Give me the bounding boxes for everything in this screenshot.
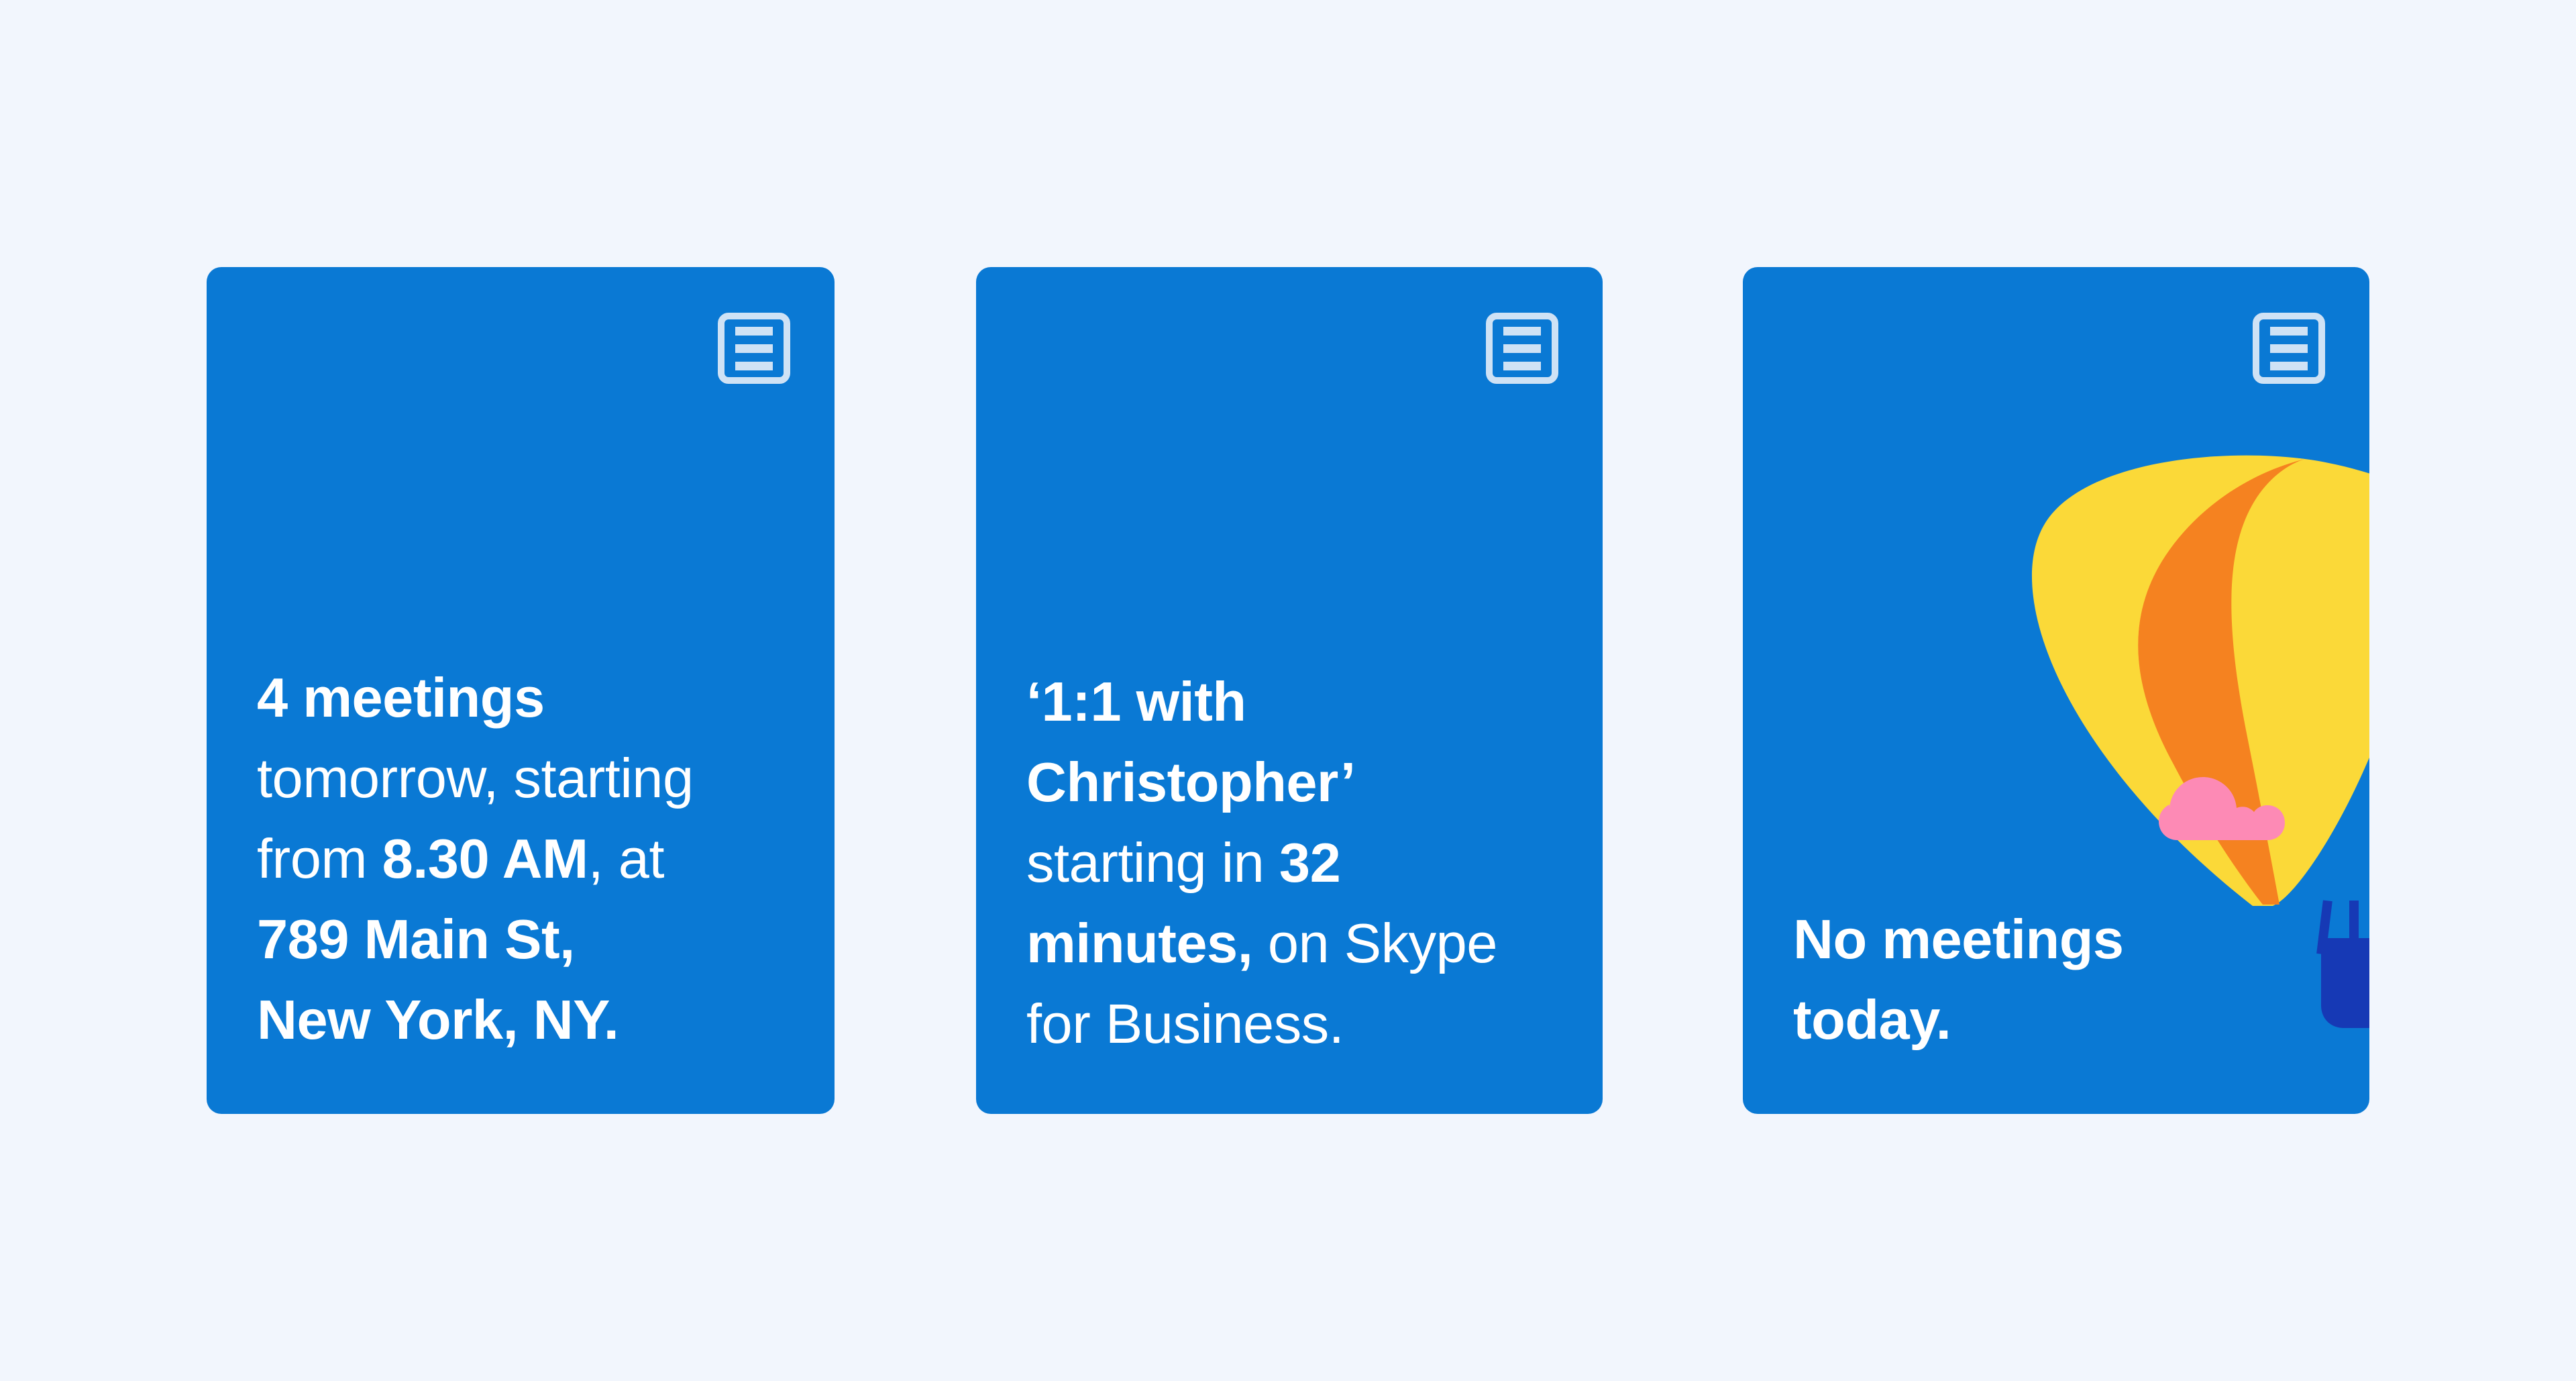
card-message: No meetings today. — [1793, 899, 2330, 1060]
list-menu-bar — [1503, 327, 1541, 336]
card-message-line: 789 Main St, — [257, 908, 575, 970]
balloon-envelope-orange — [2138, 459, 2305, 905]
card-message: 4 meetings tomorrow, starting from 8.30 … — [257, 658, 794, 1060]
meeting-card-tomorrow[interactable]: 4 meetings tomorrow, starting from 8.30 … — [207, 267, 835, 1114]
card-message-line: minutes, on Skype — [1026, 912, 1497, 974]
card-message-line: ‘1:1 with — [1026, 670, 1246, 733]
list-menu-bar — [735, 362, 773, 370]
cloud-pink — [2159, 777, 2285, 840]
meeting-card-none[interactable]: No meetings today. — [1743, 267, 2369, 1114]
list-menu-bar — [2270, 362, 2308, 370]
balloon-envelope-yellow-left — [2033, 457, 2305, 905]
card-message-line: today. — [1793, 988, 1951, 1051]
list-menu-bar — [2270, 344, 2308, 353]
list-menu-bar — [1503, 344, 1541, 353]
list-menu-icon[interactable] — [1486, 313, 1558, 384]
screen: 4 meetings tomorrow, starting from 8.30 … — [0, 0, 2576, 1381]
card-message-line: New York, NY. — [257, 988, 619, 1051]
list-menu-icon[interactable] — [2253, 313, 2325, 384]
list-menu-icon[interactable] — [718, 313, 790, 384]
list-menu-bar — [1503, 362, 1541, 370]
card-message-line: No meetings — [1793, 908, 2124, 970]
balloon-envelope-yellow — [2032, 456, 2369, 906]
card-message-line: from 8.30 AM, at — [257, 827, 664, 890]
list-menu-bar — [735, 344, 773, 353]
card-message-line: tomorrow, starting — [257, 747, 694, 809]
card-message: ‘1:1 with Christopher’ starting in 32 mi… — [1026, 662, 1563, 1064]
meeting-card-next[interactable]: ‘1:1 with Christopher’ starting in 32 mi… — [976, 267, 1603, 1114]
list-menu-bar — [735, 327, 773, 336]
card-message-line: starting in 32 — [1026, 831, 1340, 894]
card-message-line: for Business. — [1026, 992, 1344, 1055]
card-message-line: 4 meetings — [257, 666, 545, 729]
card-message-line: Christopher’ — [1026, 751, 1356, 813]
list-menu-bar — [2270, 327, 2308, 336]
